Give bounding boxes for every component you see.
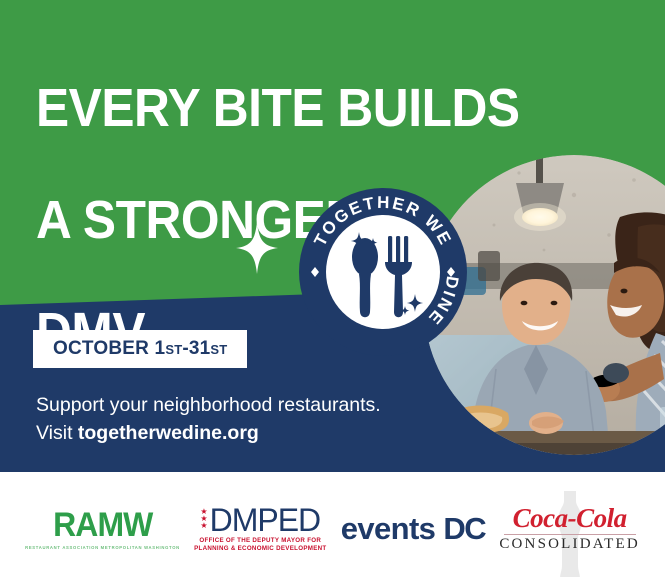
ramw-tagline: RESTAURANT ASSOCIATION METROPOLITAN WASH… bbox=[25, 545, 180, 550]
sponsor-logo-row: RAMW RESTAURANT ASSOCIATION METROPOLITAN… bbox=[0, 472, 665, 585]
visit-prefix: Visit bbox=[36, 422, 78, 444]
support-copy: Support your neighborhood restaurants. V… bbox=[36, 392, 456, 447]
website-link[interactable]: togetherwedine.org bbox=[78, 422, 259, 444]
sponsor-logo-coca-cola-consolidated[interactable]: Coca-Cola CONSOLIDATED bbox=[499, 505, 640, 552]
headline-line-2: A STRONGER bbox=[36, 193, 551, 248]
date-range-chip: OCTOBER 1ST-31ST bbox=[33, 330, 247, 368]
sparkle-icon bbox=[236, 222, 278, 274]
promotional-banner: EVERY BITE BUILDS A STRONGER DMV. TOGETH… bbox=[0, 0, 665, 585]
consolidated-word: CONSOLIDATED bbox=[499, 537, 640, 552]
dmped-wordmark: DMPED bbox=[210, 505, 321, 535]
date-month: OCTOBER bbox=[53, 338, 149, 359]
date-start-suffix: ST bbox=[165, 342, 182, 357]
headline-line-1: EVERY BITE BUILDS bbox=[36, 81, 551, 136]
coke-divider bbox=[504, 534, 636, 535]
coca-cola-script: Coca-Cola bbox=[513, 505, 627, 532]
dc-word-part: DC bbox=[443, 511, 485, 546]
together-we-dine-badge: TOGETHER WE DINE bbox=[299, 188, 467, 356]
date-end-suffix: ST bbox=[210, 342, 227, 357]
support-line-1: Support your neighborhood restaurants. bbox=[36, 392, 456, 420]
events-dc-wordmark: events DC bbox=[341, 513, 485, 544]
ramw-wordmark: RAMW bbox=[53, 508, 152, 542]
support-line-2: Visit togetherwedine.org bbox=[36, 420, 456, 448]
dmped-stars-icon: ★ ★ ★ bbox=[200, 505, 207, 529]
sponsor-logo-events-dc[interactable]: events DC bbox=[341, 513, 485, 544]
sponsor-logo-dmped[interactable]: ★ ★ ★ DMPED OFFICE OF THE DEPUTY MAYOR F… bbox=[194, 505, 326, 553]
date-end-day: 31 bbox=[189, 338, 211, 359]
sponsor-logo-ramw[interactable]: RAMW RESTAURANT ASSOCIATION METROPOLITAN… bbox=[25, 508, 180, 550]
events-word-part: events bbox=[341, 511, 436, 546]
dmped-tagline: OFFICE OF THE DEPUTY MAYOR FOR PLANNING … bbox=[194, 537, 326, 553]
date-start-day: 1 bbox=[155, 338, 166, 359]
